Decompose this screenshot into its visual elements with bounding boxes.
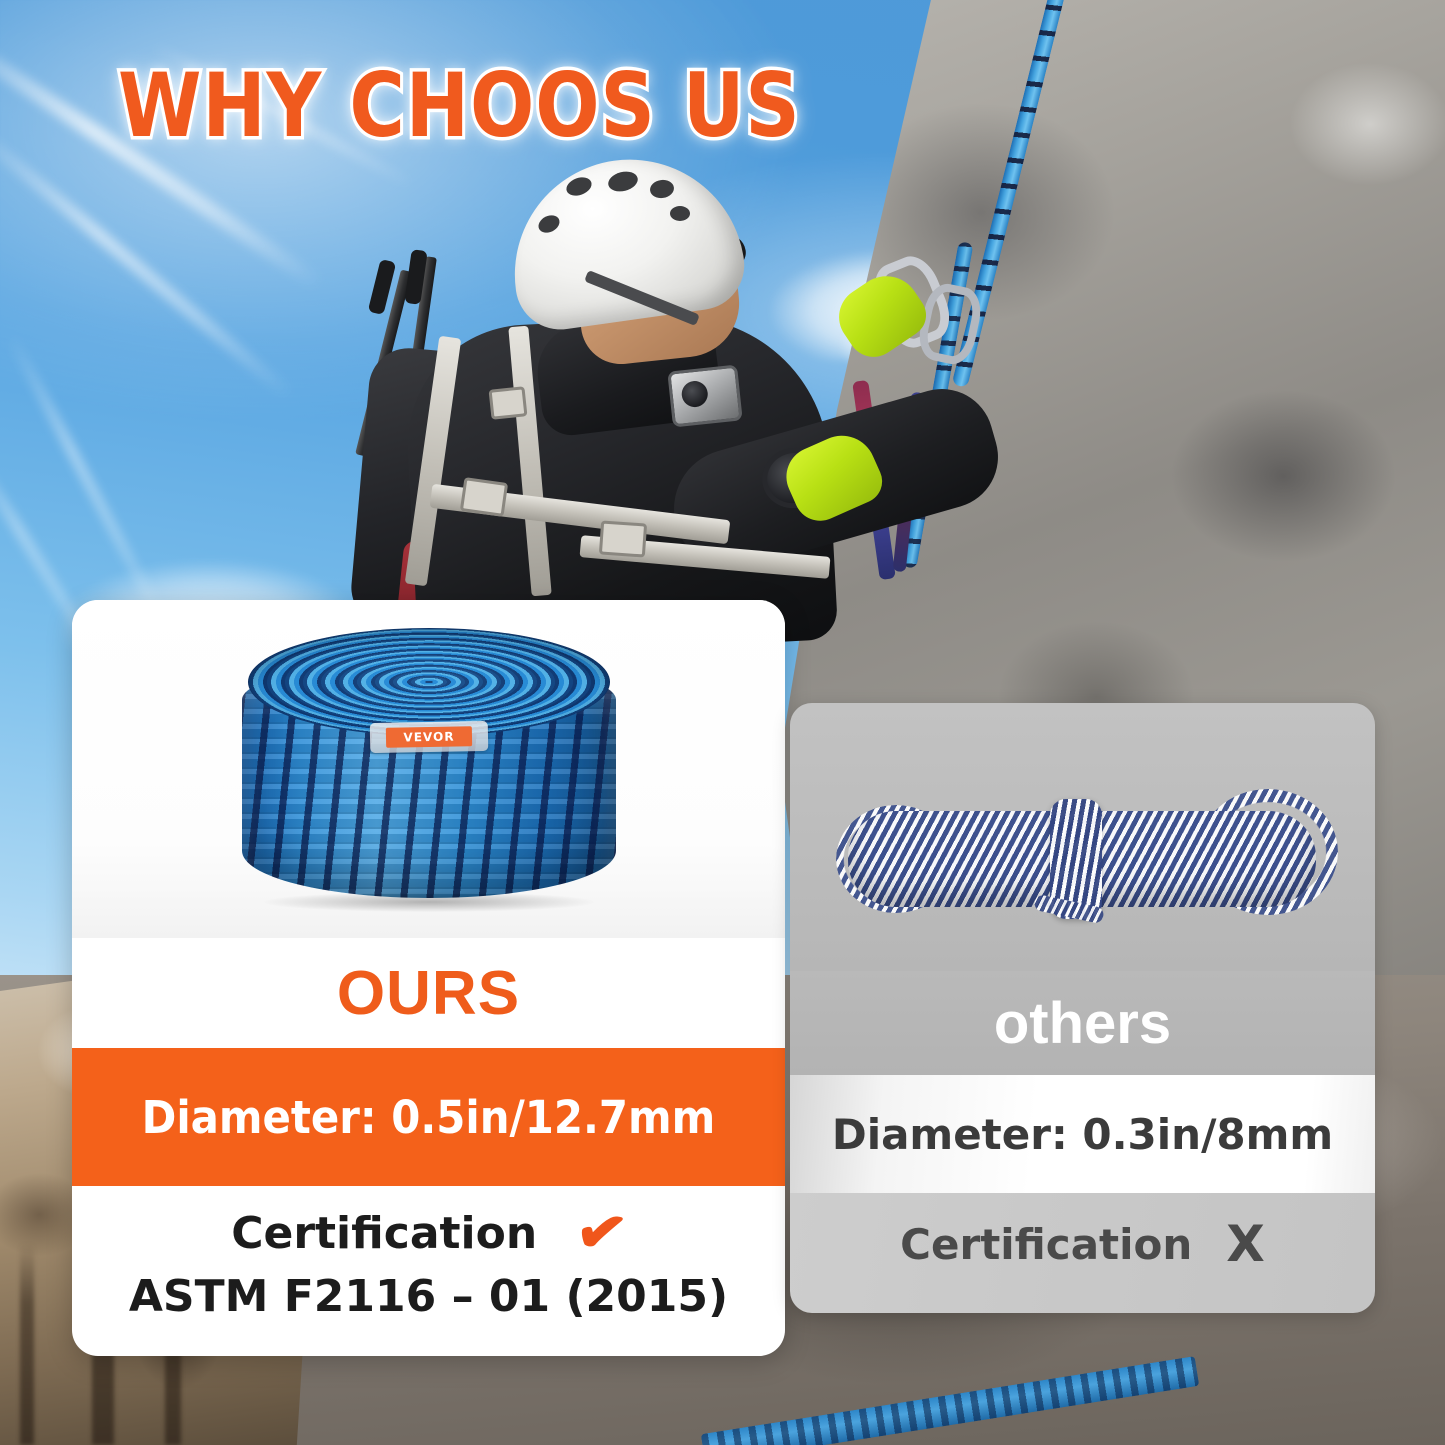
ours-certification-row: Certification ✔	[231, 1208, 626, 1259]
harness-buckle	[599, 520, 647, 557]
product-shadow	[264, 892, 594, 912]
ours-certification-standard: ASTM F2116 – 01 (2015)	[129, 1271, 728, 1322]
others-diameter-text: Diameter: 0.3in/8mm	[790, 1075, 1375, 1193]
rope-bundle-graphic	[838, 775, 1328, 945]
rope-coil-top	[248, 628, 610, 736]
others-certification-section: Certification X	[790, 1193, 1375, 1313]
others-product-image	[790, 703, 1375, 971]
ours-comparison-card: VEVOR OURS Diameter: 0.5in/12.7mm Certif…	[72, 600, 785, 1356]
ours-diameter-band: Diameter: 0.5in/12.7mm	[72, 1048, 785, 1186]
ours-certification-label: Certification	[231, 1208, 537, 1259]
others-label: others	[790, 971, 1375, 1075]
rope-coil-graphic: VEVOR	[242, 624, 616, 914]
action-camera-icon	[667, 364, 742, 427]
climber-figure	[370, 150, 1030, 620]
helmet-vent	[670, 206, 690, 221]
ours-product-image: VEVOR	[72, 600, 785, 938]
harness-buckle	[489, 386, 528, 420]
others-comparison-card: others Diameter: 0.3in/8mm Certification…	[790, 703, 1375, 1313]
cross-mark-icon: X	[1226, 1215, 1265, 1273]
glove-icon	[827, 263, 934, 367]
checkmark-icon: ✔	[573, 1207, 630, 1260]
ours-label: OURS	[72, 938, 785, 1048]
ours-certification-section: Certification ✔ ASTM F2116 – 01 (2015)	[72, 1186, 785, 1356]
infographic-canvas: WHY CHOOS US VEVOR OURS Diameter: 0.5in/…	[0, 0, 1445, 1445]
ours-diameter-text: Diameter: 0.5in/12.7mm	[142, 1091, 716, 1144]
brand-tag: VEVOR	[369, 721, 488, 753]
brand-name: VEVOR	[385, 726, 471, 747]
harness-buckle	[460, 477, 508, 517]
others-certification-label: Certification	[900, 1220, 1192, 1269]
page-title: WHY CHOOS US	[118, 62, 801, 150]
